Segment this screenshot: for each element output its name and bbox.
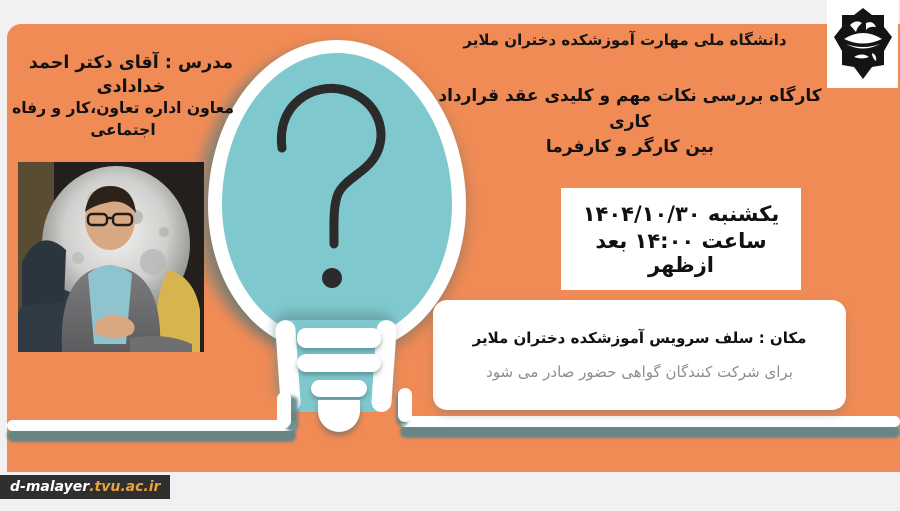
- presenter-role-line-2: اجتماعی: [0, 119, 246, 141]
- event-time: ساعت ۱۴:۰۰ بعد ازظهر: [561, 229, 801, 277]
- presenter-name: مدرس : آقای دکتر احمد خدادادی: [0, 52, 262, 99]
- url-primary: d-malayer: [10, 479, 89, 495]
- rail-left-corner: [277, 392, 291, 428]
- bottom-rail-left: [7, 420, 296, 431]
- bulb-screw-band-2: [297, 354, 381, 372]
- workshop-title-line-2: بین کارگر و کارفرما: [430, 135, 830, 161]
- bulb-screw-band-3: [311, 380, 367, 397]
- rail-right-corner: [398, 388, 412, 422]
- presenter-photo: [18, 162, 204, 352]
- question-mark-icon: [252, 76, 422, 306]
- url-suffix: .tvu.ac.ir: [89, 479, 160, 495]
- university-title: دانشگاه ملی مهارت آموزشکده دختران ملایر: [430, 30, 820, 51]
- university-logo-icon: [827, 0, 898, 88]
- certificate-note: برای شرکت کنندگان گواهی حضور صادر می شود: [486, 363, 793, 381]
- bulb-screw-band-1: [297, 328, 381, 348]
- bottom-rail-right: [400, 416, 900, 427]
- venue-box: مکان : سلف سرویس آموزشکده دختران ملایر ب…: [433, 300, 846, 410]
- presenter-role: معاون اداره تعاون،کار و رفاه اجتماعی: [0, 97, 246, 142]
- venue-location: مکان : سلف سرویس آموزشکده دختران ملایر: [473, 329, 807, 347]
- bulb-base-tip: [318, 400, 360, 432]
- presenter-role-line-1: معاون اداره تعاون،کار و رفاه: [0, 97, 246, 119]
- poster-canvas: مدرس : آقای دکتر احمد خدادادی معاون ادار…: [0, 0, 900, 511]
- event-date: یکشنبه ۱۴۰۴/۱۰/۳۰: [583, 202, 780, 226]
- schedule-box: یکشنبه ۱۴۰۴/۱۰/۳۰ ساعت ۱۴:۰۰ بعد ازظهر: [561, 188, 801, 290]
- website-url-banner[interactable]: d-malayer .tvu.ac.ir: [0, 475, 170, 499]
- workshop-title: کارگاه بررسی نکات مهم و کلیدی عقد قراردا…: [430, 84, 830, 161]
- workshop-title-line-1: کارگاه بررسی نکات مهم و کلیدی عقد قراردا…: [430, 84, 830, 135]
